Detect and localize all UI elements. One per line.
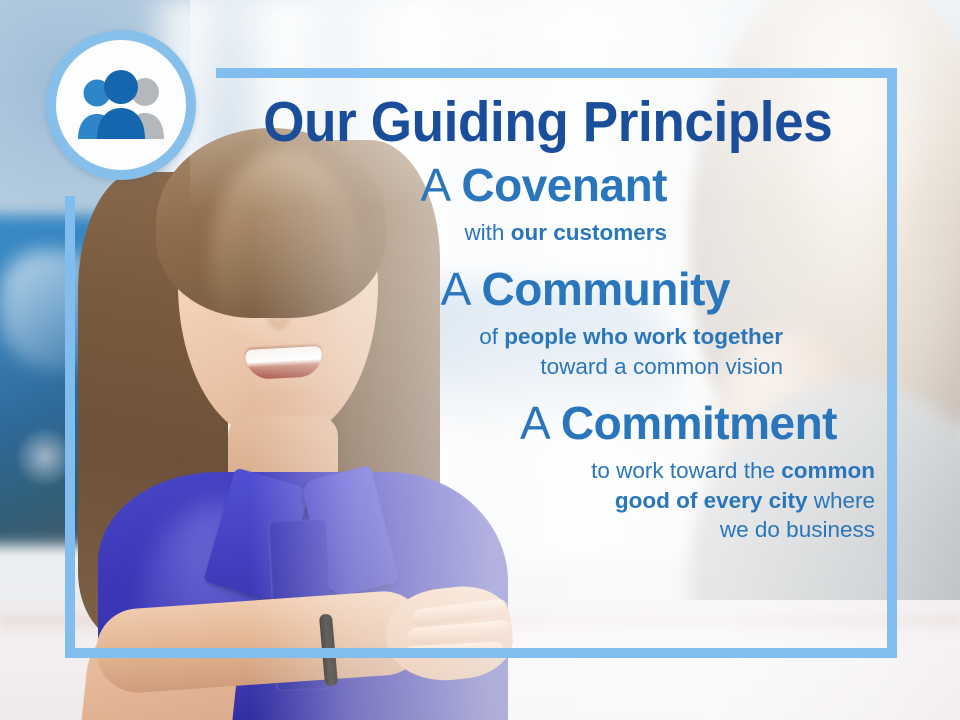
principle-keyword: Commitment bbox=[561, 397, 837, 449]
group-of-people-icon bbox=[69, 70, 173, 140]
principle-commitment: A Commitment to work toward the commongo… bbox=[230, 399, 875, 545]
guiding-principles-graphic: FLOW FLOW AUTOMOTIVE bbox=[0, 0, 960, 720]
principle-heading: A Covenant bbox=[230, 161, 875, 211]
frame-border-bottom bbox=[65, 648, 897, 658]
frame-border-right bbox=[887, 68, 897, 658]
principle-community: A Community of people who work togethert… bbox=[230, 265, 875, 381]
text-content: Our Guiding Principles A Covenant with o… bbox=[230, 70, 875, 645]
principle-lead: A bbox=[441, 263, 469, 315]
page-title: Our Guiding Principles bbox=[253, 70, 853, 151]
principle-covenant: A Covenant with our customers bbox=[230, 161, 875, 247]
principle-lead: A bbox=[520, 397, 548, 449]
principle-heading: A Community bbox=[230, 265, 875, 315]
guiding-principles-badge bbox=[46, 30, 196, 180]
principle-heading: A Commitment bbox=[230, 399, 875, 449]
frame-border-left bbox=[65, 196, 75, 658]
principle-subtext: of people who work togethertoward a comm… bbox=[230, 322, 875, 381]
principle-subtext: with our customers bbox=[230, 218, 875, 248]
principle-subtext: to work toward the commongood of every c… bbox=[230, 456, 875, 545]
principle-keyword: Community bbox=[482, 263, 731, 315]
principle-lead: A bbox=[420, 159, 448, 211]
principle-keyword: Covenant bbox=[461, 159, 667, 211]
